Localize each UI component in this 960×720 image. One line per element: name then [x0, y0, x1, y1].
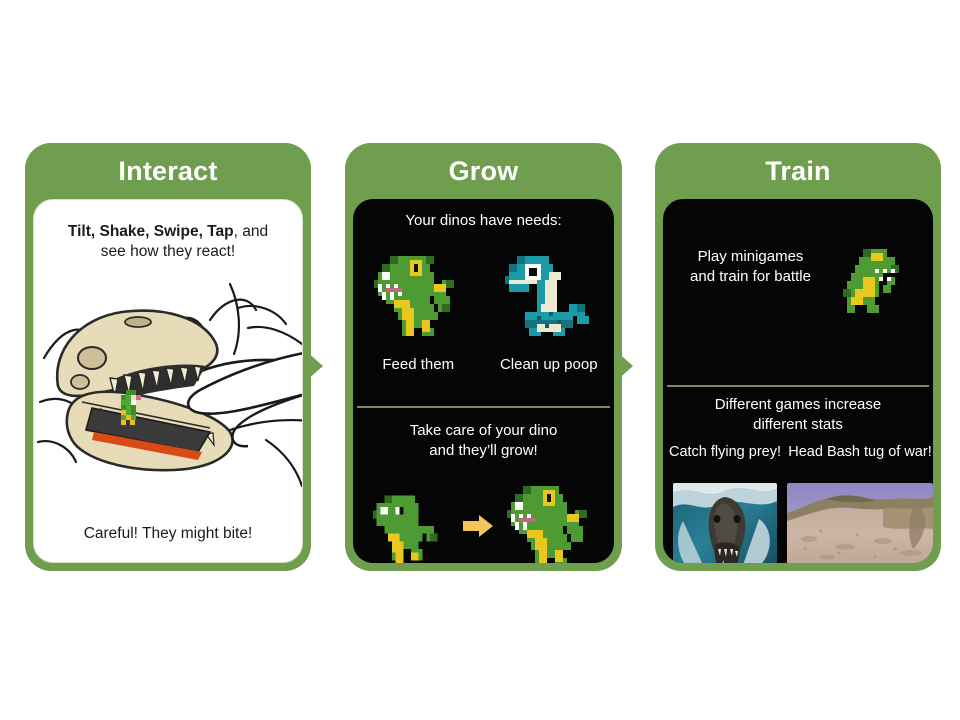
grow-section-divider [357, 406, 610, 408]
interact-instruction-line2: see how they react! [101, 243, 235, 260]
arrow-grow-to-train-icon [616, 351, 633, 381]
grow-care-line1: Take care of your dino [410, 422, 558, 439]
grow-needs-heading: Your dinos have needs: [361, 211, 606, 231]
minigame-hp: Catch flying prey! [663, 443, 787, 563]
minigame-str: Head Bash tug of war! [787, 443, 933, 563]
panel-grow: Grow Your dinos have needs: [345, 143, 622, 571]
interact-bottom-caption: Careful! They might bite! [44, 524, 292, 544]
grow-care-line2: and they’ll grow! [429, 442, 537, 459]
feed-sprite-cell [353, 241, 484, 351]
grow-progression [353, 471, 614, 563]
interact-gestures-bold: Tilt, Shake, Swipe, Tap [68, 223, 234, 240]
train-stats-text: Different games increase different stats [669, 395, 927, 434]
large-green-trex-sprite [503, 478, 599, 563]
panel-interact: Interact Tilt, Shake, Swipe, Tap, and se… [25, 143, 311, 571]
train-section-divider [667, 385, 929, 387]
panel-interact-title: Interact [25, 143, 311, 199]
train-intro-line2: and train for battle [690, 268, 811, 285]
growth-arrow-icon [461, 513, 495, 539]
green-trex-sprite [370, 248, 466, 344]
grow-care-text: Take care of your dino and they’ll grow! [361, 421, 606, 460]
clean-sprite-cell [484, 241, 615, 351]
interact-instruction-text: Tilt, Shake, Swipe, Tap, and see how the… [46, 222, 290, 262]
clean-up-poop-label: Clean up poop [484, 356, 615, 373]
panel-interact-body: Tilt, Shake, Swipe, Tap, and see how the… [33, 199, 303, 563]
panel-grow-body: Your dinos have needs: [353, 199, 614, 563]
grow-need-labels: Feed them Clean up poop [353, 356, 614, 373]
panel-train-title: Train [655, 143, 941, 199]
desert-landscape-photo [787, 483, 933, 563]
panel-grow-title: Grow [345, 143, 622, 199]
train-intro-line1: Play minigames [698, 248, 804, 265]
panel-train-body: Play minigames and train for battle [663, 199, 933, 563]
train-minigames: Catch flying prey! [663, 443, 933, 563]
small-green-dino-sprite [369, 484, 453, 563]
dino-skull-case-illustration [34, 262, 302, 512]
teal-brontosaurus-sprite [501, 248, 597, 344]
train-intro-sprite-wrap [835, 241, 915, 321]
minigame-hp-title: Catch flying prey! [669, 443, 781, 481]
dino-skull-case-svg [34, 262, 303, 512]
train-intro-text: Play minigames and train for battle [673, 247, 828, 286]
underwater-dinosaur-photo [673, 483, 777, 563]
train-stats-line1: Different games increase [715, 396, 881, 413]
green-trex-running-sprite [835, 241, 915, 321]
panel-train: Train Play minigames and train for battl… [655, 143, 941, 571]
train-stats-line2: different stats [753, 416, 843, 433]
feed-them-label: Feed them [353, 356, 484, 373]
arrow-interact-to-grow-icon [306, 351, 323, 381]
minigame-str-title: Head Bash tug of war! [788, 443, 931, 481]
infographic-canvas: Interact Tilt, Shake, Swipe, Tap, and se… [0, 0, 960, 720]
grow-need-sprites [353, 241, 614, 351]
interact-gestures-rest: , and [234, 223, 268, 240]
